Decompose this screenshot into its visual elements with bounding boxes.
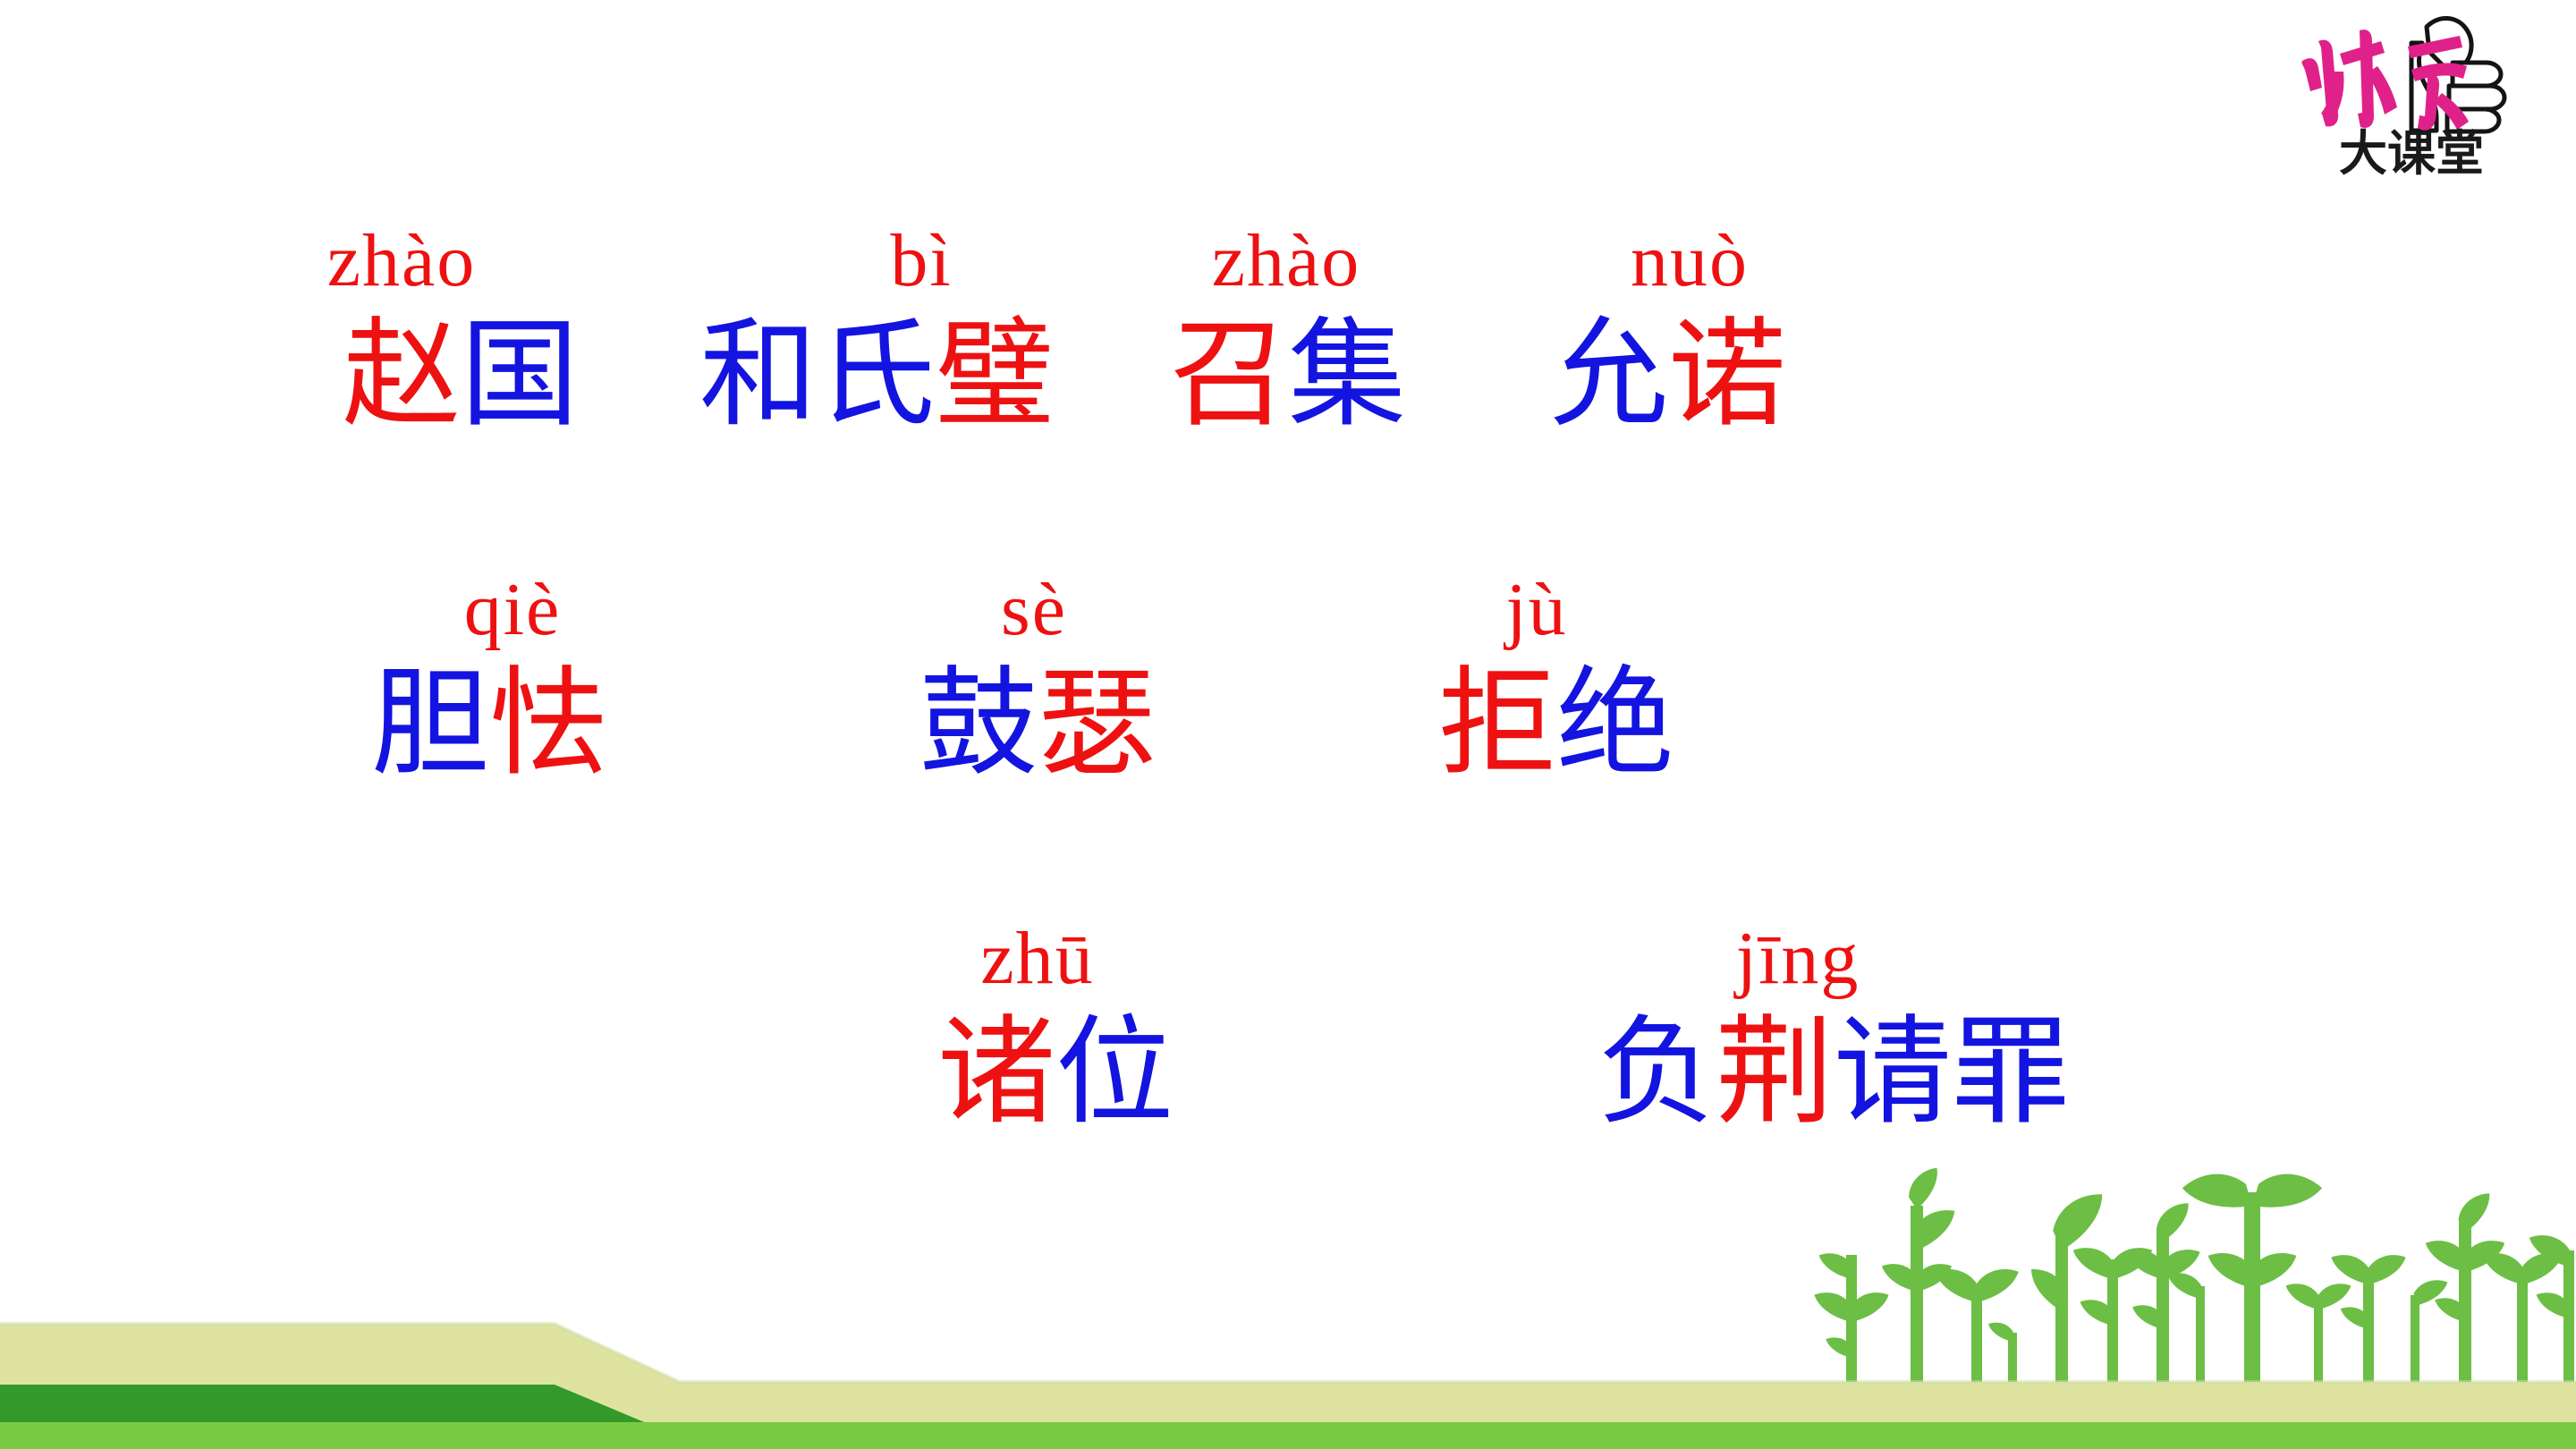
pinyin-label: jù: [1505, 572, 1567, 648]
pinyin-label: sè: [1001, 572, 1067, 648]
hanzi-char: 荆: [1716, 1004, 1834, 1141]
hanzi-char: 绝: [1556, 655, 1674, 792]
word-group[interactable]: sè鼓瑟: [796, 572, 1333, 784]
hanzi-char: 氏: [818, 306, 936, 444]
word-group[interactable]: jīng负荆请罪: [1592, 921, 2218, 1133]
hanzi-char: 位: [1055, 1004, 1174, 1141]
hanzi-char: 拒: [1438, 655, 1556, 792]
hanzi-char: 怯: [489, 655, 607, 792]
hanzi-char: 胆: [371, 655, 489, 792]
pinyin-label: nuò: [1631, 224, 1749, 299]
hanzi-char: 集: [1288, 306, 1406, 444]
band-bright-green: [0, 1422, 2576, 1449]
word-board: zhào赵国bì和氏璧zhào召集nuò允诺 qiè胆怯sè鼓瑟jù拒绝 zhū…: [0, 0, 2576, 1252]
hanzi-char: 罪: [1952, 1004, 2070, 1141]
pinyin-label: zhū: [980, 921, 1094, 996]
pinyin-label: bì: [890, 224, 952, 299]
word-row-3: zhū诸位jīng负荆请罪: [698, 921, 2218, 1133]
band-pale: [0, 1324, 2576, 1449]
band-bright-green-left: [0, 1422, 2576, 1449]
hanzi-char: 鼓: [919, 655, 1038, 792]
hanzi-word: 召集: [1170, 315, 1406, 436]
hanzi-char: 国: [461, 306, 579, 444]
hanzi-word: 鼓瑟: [919, 664, 1156, 784]
word-group[interactable]: zhào召集: [1100, 224, 1476, 436]
hanzi-word: 负荆请罪: [1597, 1013, 2070, 1133]
hanzi-char: 召: [1170, 306, 1288, 444]
hanzi-word: 赵国: [343, 315, 579, 436]
word-row-1: zhào赵国bì和氏璧zhào召集nuò允诺: [268, 224, 1860, 436]
hanzi-char: 请: [1834, 1004, 1952, 1141]
hanzi-word: 诸位: [937, 1013, 1174, 1133]
word-group[interactable]: nuò允诺: [1476, 224, 1860, 436]
hanzi-char: 和: [699, 306, 818, 444]
pinyin-label: zhào: [1212, 224, 1361, 299]
pinyin-label: jīng: [1736, 921, 1860, 996]
hanzi-char: 诺: [1668, 306, 1786, 444]
band-pale-highlight: [0, 1322, 2576, 1385]
word-group[interactable]: bì和氏璧: [653, 224, 1100, 436]
hanzi-char: 负: [1597, 1004, 1716, 1141]
hanzi-word: 允诺: [1550, 315, 1786, 436]
hanzi-char: 诸: [937, 1004, 1055, 1141]
word-row-2: qiè胆怯sè鼓瑟jù拒绝: [268, 572, 1708, 784]
band-dark-green: [0, 1385, 2576, 1449]
hanzi-char: 璧: [936, 306, 1054, 444]
hanzi-word: 和氏璧: [699, 315, 1054, 436]
pinyin-label: qiè: [464, 572, 562, 648]
hanzi-char: 赵: [343, 306, 461, 444]
hanzi-word: 胆怯: [371, 664, 607, 784]
word-group[interactable]: zhào赵国: [268, 224, 653, 436]
hanzi-char: 瑟: [1038, 655, 1156, 792]
hanzi-char: 允: [1550, 306, 1668, 444]
hanzi-word: 拒绝: [1438, 664, 1674, 784]
pinyin-label: zhào: [327, 224, 477, 299]
word-group[interactable]: jù拒绝: [1333, 572, 1708, 784]
word-group[interactable]: qiè胆怯: [268, 572, 796, 784]
word-group[interactable]: zhū诸位: [698, 921, 1592, 1133]
